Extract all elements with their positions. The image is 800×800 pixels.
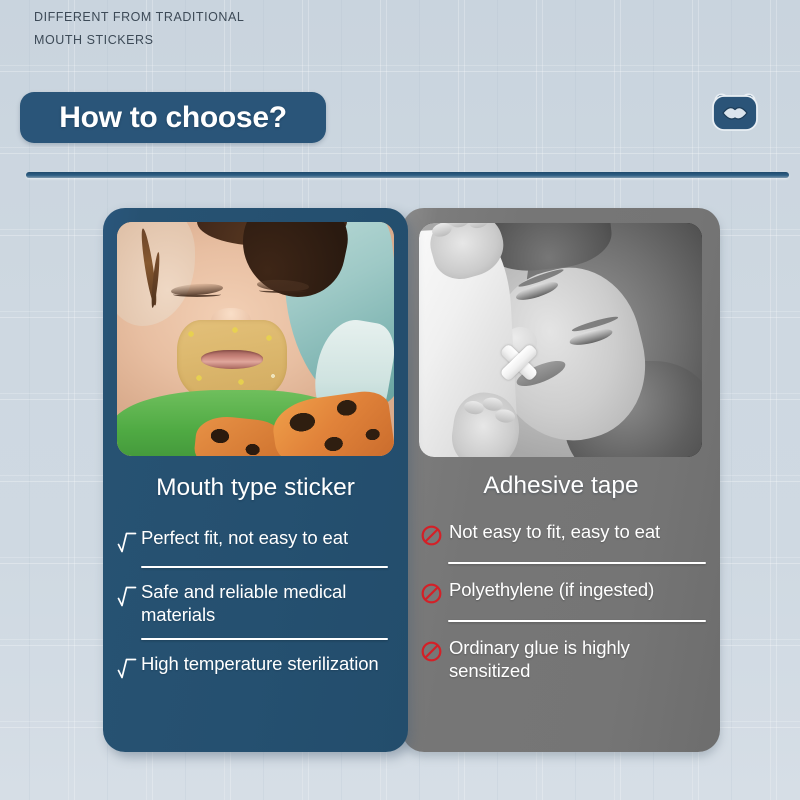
check-radical-icon	[117, 530, 137, 554]
feature-divider	[141, 638, 388, 641]
comparison-cards: Adhesive tape Not easy to fit, easy to e…	[0, 0, 800, 800]
card-title-mouth-sticker: Mouth type sticker	[103, 474, 408, 502]
feature-divider	[141, 566, 388, 569]
photo-adhesive-tape	[419, 223, 702, 457]
feature-label: Not easy to fit, easy to eat	[449, 520, 660, 543]
infographic-page: DIFFERENT FROM TRADITIONAL MOUTH STICKER…	[0, 0, 800, 800]
card-title-adhesive-tape: Adhesive tape	[402, 472, 720, 500]
cartoon-mouth-sticker-graphic	[177, 320, 287, 398]
comparison-card-adhesive-tape: Adhesive tape Not easy to fit, easy to e…	[402, 208, 720, 752]
prohibited-icon	[420, 524, 443, 548]
feature-label: Ordinary glue is highly sensitized	[449, 636, 706, 682]
feature-list-mouth-sticker: Perfect fit, not easy to eat Safe and re…	[103, 526, 408, 694]
feature-divider	[448, 620, 706, 623]
feature-item: Polyethylene (if ingested)	[420, 578, 706, 622]
photo-mouth-sticker	[117, 222, 394, 456]
prohibited-icon	[420, 582, 443, 606]
feature-item: Perfect fit, not easy to eat	[117, 526, 392, 568]
feature-label: Safe and reliable medical materials	[141, 580, 392, 626]
feature-label: High temperature sterilization	[141, 652, 379, 675]
feature-label: Perfect fit, not easy to eat	[141, 526, 348, 549]
feature-item: High temperature sterilization	[117, 652, 392, 694]
feature-divider	[448, 562, 706, 565]
prohibited-icon	[420, 640, 443, 664]
cross-tape-icon	[497, 339, 541, 385]
feature-item: Ordinary glue is highly sensitized	[420, 636, 706, 682]
feature-label: Polyethylene (if ingested)	[449, 578, 654, 601]
check-radical-icon	[117, 656, 137, 680]
feature-item: Not easy to fit, easy to eat	[420, 520, 706, 564]
feature-item: Safe and reliable medical materials	[117, 580, 392, 640]
check-radical-icon	[117, 584, 137, 608]
comparison-card-mouth-sticker: Mouth type sticker Perfect fit, not easy…	[103, 208, 408, 752]
feature-list-adhesive-tape: Not easy to fit, easy to eat Polyethylen…	[402, 520, 720, 682]
